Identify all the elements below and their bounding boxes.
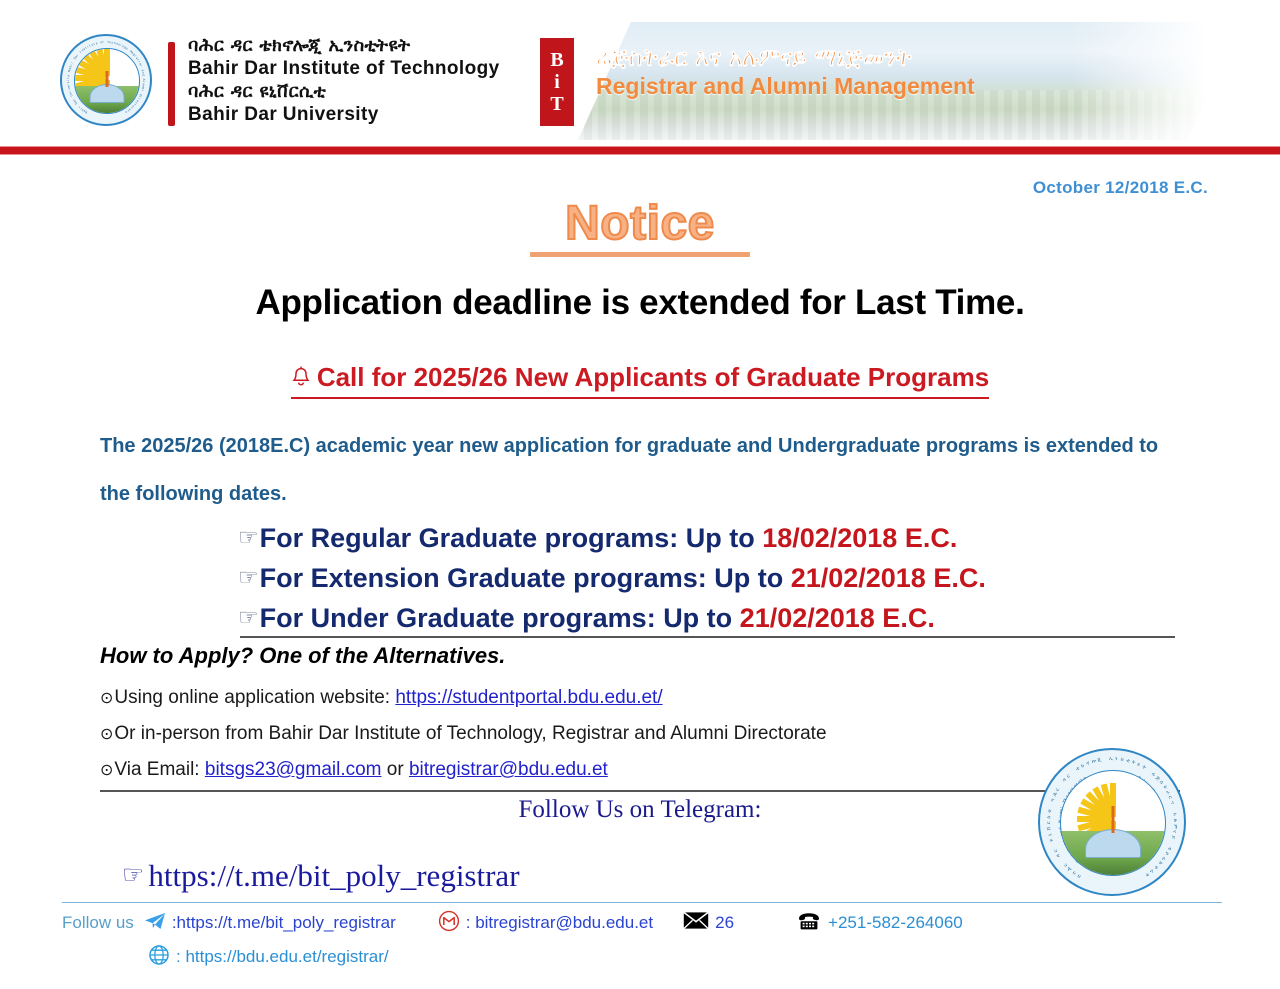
footer-telegram-url[interactable]: :https://t.me/bit_poly_registrar — [172, 913, 396, 933]
telephone-icon — [796, 911, 822, 936]
footer-row-secondary: : https://bdu.edu.et/registrar/ — [62, 940, 1242, 974]
footer-po-box: 26 — [715, 913, 734, 933]
call-for-applicants-text: Call for 2025/26 New Applicants of Gradu… — [317, 362, 989, 392]
list-item: ⊙Using online application website: https… — [100, 680, 1100, 716]
bullet-icon: ⊙ — [100, 688, 113, 707]
pointing-hand-icon: ☞ — [238, 605, 259, 631]
bit-badge-letter-t: T — [550, 94, 563, 115]
header-divider — [168, 42, 175, 126]
page-header: Bahir Dar University Bahir Dar Institute… — [0, 0, 1280, 148]
apply-item-text: Via Email: — [114, 759, 204, 780]
footer-website-item[interactable]: : https://bdu.edu.et/registrar/ — [148, 944, 389, 971]
globe-icon — [148, 944, 170, 971]
deadline-label: For Under Graduate programs: Up to — [260, 603, 740, 633]
bit-badge: B i T — [540, 38, 574, 126]
telegram-icon — [144, 912, 166, 935]
how-to-apply-divider — [100, 790, 1180, 792]
registrar-email-link[interactable]: bitregistrar@bdu.edu.et — [409, 759, 608, 780]
footer-website-url[interactable]: : https://bdu.edu.et/registrar/ — [176, 947, 389, 967]
bullet-icon: ⊙ — [100, 760, 113, 779]
follow-us-label: Follow us — [62, 913, 134, 933]
bell-icon — [291, 364, 311, 395]
apply-item-text: Or in-person from Bahir Dar Institute of… — [114, 723, 826, 744]
notice-title-block: Notice — [0, 198, 1280, 257]
institution-title-english-2: Bahir Dar University — [188, 103, 528, 126]
deadlines-divider — [240, 636, 1175, 638]
banner-title-amharic: ሬጅስትራር እና አሉምናይ ማኔጅመንት — [596, 44, 1216, 72]
footer-divider — [62, 902, 1222, 903]
apply-item-text: Using online application website: — [114, 687, 395, 708]
deadline-row: ☞For Regular Graduate programs: Up to 18… — [238, 518, 1178, 558]
deadline-label: For Extension Graduate programs: Up to — [260, 563, 791, 593]
list-item: ⊙Or in-person from Bahir Dar Institute o… — [100, 716, 1100, 752]
telegram-link-row[interactable]: ☞https://t.me/bit_poly_registrar — [122, 858, 520, 894]
deadline-date: 18/02/2018 E.C. — [762, 523, 957, 553]
notice-intro-paragraph: The 2025/26 (2018E.C) academic year new … — [100, 422, 1190, 518]
deadline-label: For Regular Graduate programs: Up to — [260, 523, 763, 553]
institution-title-amharic-1: ባሕር ዳር ቴክኖሎጂ ኢንስቲትዩት — [188, 34, 528, 57]
how-to-apply-heading: How to Apply? One of the Alternatives. — [100, 643, 505, 669]
header-red-bar — [0, 146, 1280, 155]
bit-badge-letter-i: i — [554, 72, 560, 93]
notice-headline: Application deadline is extended for Las… — [0, 283, 1280, 323]
registrar-banner: B i T ሬጅስትራር እና አሉምናይ ማኔጅመንት Registrar a… — [540, 22, 1240, 140]
deadline-date: 21/02/2018 E.C. — [791, 563, 986, 593]
bullet-icon: ⊙ — [100, 724, 113, 743]
banner-title-english: Registrar and Alumni Management — [596, 73, 1216, 100]
call-for-applicants-inner: Call for 2025/26 New Applicants of Gradu… — [291, 362, 989, 399]
apply-item-conjunction: or — [382, 759, 409, 780]
footer-telegram-item[interactable]: :https://t.me/bit_poly_registrar — [144, 912, 396, 935]
notice-title-underline — [530, 252, 750, 257]
footer-email-item[interactable]: : bitregistrar@bdu.edu.et — [438, 910, 653, 937]
telegram-url[interactable]: https://t.me/bit_poly_registrar — [148, 858, 519, 893]
deadline-row: ☞For Under Graduate programs: Up to 21/0… — [238, 598, 1178, 638]
footer-email-address[interactable]: : bitregistrar@bdu.edu.et — [466, 913, 653, 933]
envelope-icon — [683, 911, 709, 935]
call-for-applicants-line: Call for 2025/26 New Applicants of Gradu… — [0, 362, 1280, 399]
institution-title-amharic-2: ባሕር ዳር ዩኒቨርሲቲ — [188, 80, 528, 103]
deadline-row: ☞For Extension Graduate programs: Up to … — [238, 558, 1178, 598]
footer-row-primary: Follow us :https://t.me/bit_poly_registr… — [62, 906, 1242, 940]
institution-title-english-1: Bahir Dar Institute of Technology — [188, 57, 528, 80]
gmail-address-link[interactable]: bitsgs23@gmail.com — [205, 759, 382, 780]
university-seal-icon: Bahir Dar University Bahir Dar Institute… — [60, 34, 152, 126]
deadline-list: ☞For Regular Graduate programs: Up to 18… — [238, 518, 1178, 638]
pointing-hand-icon: ☞ — [122, 860, 144, 889]
how-to-apply-list: ⊙Using online application website: https… — [100, 680, 1100, 788]
footer-pobox-item: 26 — [683, 911, 734, 935]
registrar-seal-icon: በባሕር ዳር ዩኒቨርስቲ ባሕር ዳር ቴክኖሎጂ ኢንስቲትዩት ሬጅስት… — [1038, 748, 1186, 896]
institution-titles: ባሕር ዳር ቴክኖሎጂ ኢንስቲትዩት Bahir Dar Institute… — [188, 34, 528, 126]
pointing-hand-icon: ☞ — [238, 565, 259, 591]
list-item: ⊙Via Email: bitsgs23@gmail.com or bitreg… — [100, 752, 1100, 788]
student-portal-link[interactable]: https://studentportal.bdu.edu.et/ — [395, 687, 662, 708]
notice-date: October 12/2018 E.C. — [1033, 178, 1208, 198]
page-footer: Follow us :https://t.me/bit_poly_registr… — [62, 906, 1242, 974]
pointing-hand-icon: ☞ — [238, 525, 259, 551]
notice-title: Notice — [565, 198, 715, 250]
footer-phone-number: +251-582-264060 — [828, 913, 963, 933]
footer-phone-item: +251-582-264060 — [796, 911, 963, 936]
bit-badge-letter-b: B — [550, 50, 563, 71]
gmail-icon — [438, 910, 460, 937]
deadline-date: 21/02/2018 E.C. — [740, 603, 935, 633]
